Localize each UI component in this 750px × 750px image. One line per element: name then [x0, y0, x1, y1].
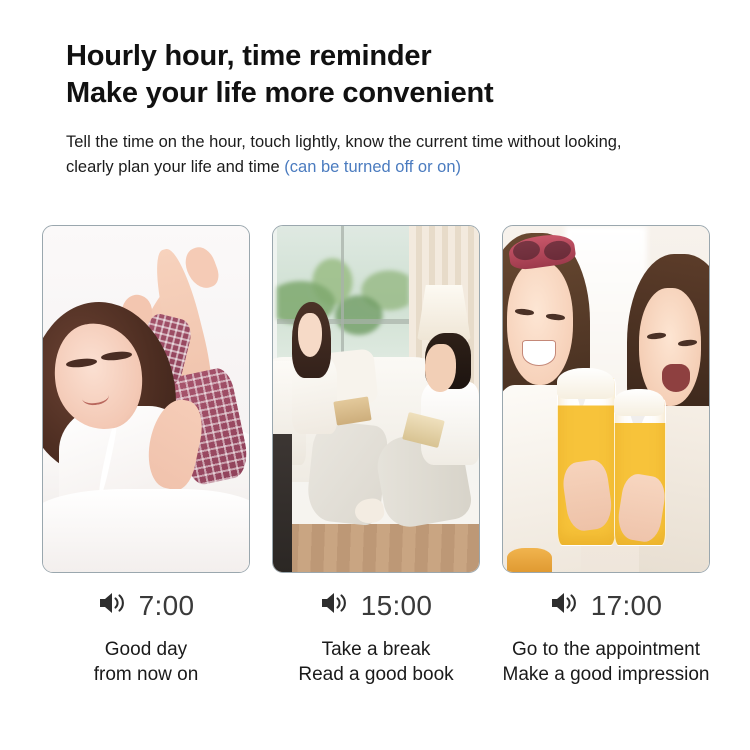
photo-friends-toasting: [503, 226, 709, 572]
caption-line-2: Read a good book: [298, 662, 453, 687]
time-value: 15:00: [361, 592, 433, 620]
feature-panels: 7:00 Good day from now on: [42, 225, 710, 688]
bed-sheet: [43, 489, 249, 572]
caption-line-2: Make a good impression: [503, 662, 710, 687]
feature-panel-afternoon: 15:00 Take a break Read a good book: [272, 225, 480, 688]
photo-waking-up: [43, 226, 249, 572]
caption-line-2: from now on: [94, 662, 199, 687]
beer-foam-left: [557, 368, 615, 399]
snack-bowl: [507, 548, 552, 572]
feature-panel-evening: 17:00 Go to the appointment Make a good …: [502, 225, 710, 688]
photo-reading-couple: [273, 226, 479, 572]
caption-line-1: Good day: [94, 637, 199, 662]
dark-furniture: [273, 434, 292, 572]
subtitle-block: Tell the time on the hour, touch lightly…: [66, 130, 666, 180]
headline-line-1: Hourly hour, time reminder: [66, 38, 726, 75]
speaker-icon: [98, 590, 128, 621]
speaker-icon: [320, 590, 350, 621]
wood-floor: [273, 524, 479, 572]
caption-line-1: Take a break: [298, 637, 453, 662]
time-row-evening: 17:00: [550, 590, 663, 621]
photo-frame-morning: [42, 225, 250, 573]
caption-afternoon: Take a break Read a good book: [298, 637, 453, 688]
speaker-icon: [550, 590, 580, 621]
lamp-shade: [417, 285, 471, 340]
header-block: Hourly hour, time reminder Make your lif…: [66, 38, 726, 180]
beer-foam-right: [614, 389, 663, 417]
photo-frame-evening: [502, 225, 710, 573]
subtitle-accent-note: (can be turned off or on): [284, 158, 461, 176]
time-value: 17:00: [591, 592, 663, 620]
feature-panel-morning: 7:00 Good day from now on: [42, 225, 250, 688]
caption-morning: Good day from now on: [94, 637, 199, 688]
time-value: 7:00: [139, 592, 195, 620]
page-title: Hourly hour, time reminder Make your lif…: [66, 38, 726, 112]
caption-line-1: Go to the appointment: [503, 637, 710, 662]
photo-frame-afternoon: [272, 225, 480, 573]
time-row-morning: 7:00: [98, 590, 195, 621]
caption-evening: Go to the appointment Make a good impres…: [503, 637, 710, 688]
time-row-afternoon: 15:00: [320, 590, 433, 621]
friend-a-face: [507, 261, 573, 386]
subtitle-line-1: Tell the time on the hour, touch lightly…: [66, 133, 560, 151]
headline-line-2: Make your life more convenient: [66, 75, 726, 112]
